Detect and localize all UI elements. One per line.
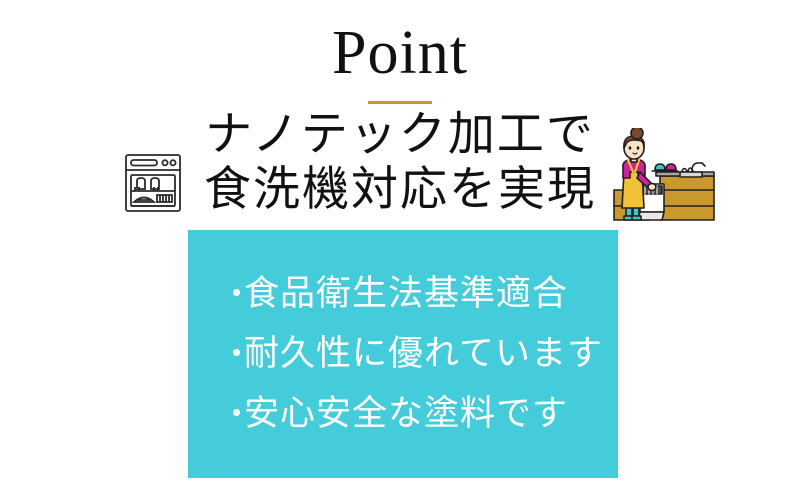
feature-label-2: 耐久性に優れています [244, 324, 603, 384]
feature-label-3: 安心安全な塗料です [244, 384, 568, 444]
dishwasher-icon [120, 150, 186, 216]
feature-panel: ・ 食品衛生法基準適合 ・ 耐久性に優れています ・ 安心安全な塗料です [188, 230, 618, 478]
woman-loading-dishwasher-illustration [606, 128, 718, 232]
bullet-icon: ・ [220, 384, 244, 444]
feature-item-3: ・ 安心安全な塗料です [188, 384, 618, 444]
feature-label-1: 食品衛生法基準適合 [244, 264, 568, 324]
promotional-banner: Point ナノテック加工で 食洗機対応を実現 [0, 0, 800, 496]
title-block: Point [0, 22, 800, 85]
feature-item-1: ・ 食品衛生法基準適合 [188, 264, 618, 324]
bullet-icon: ・ [220, 264, 244, 324]
title-divider [368, 101, 432, 104]
bullet-icon: ・ [220, 324, 244, 384]
feature-item-2: ・ 耐久性に優れています [188, 324, 618, 384]
page-title: Point [0, 22, 800, 85]
